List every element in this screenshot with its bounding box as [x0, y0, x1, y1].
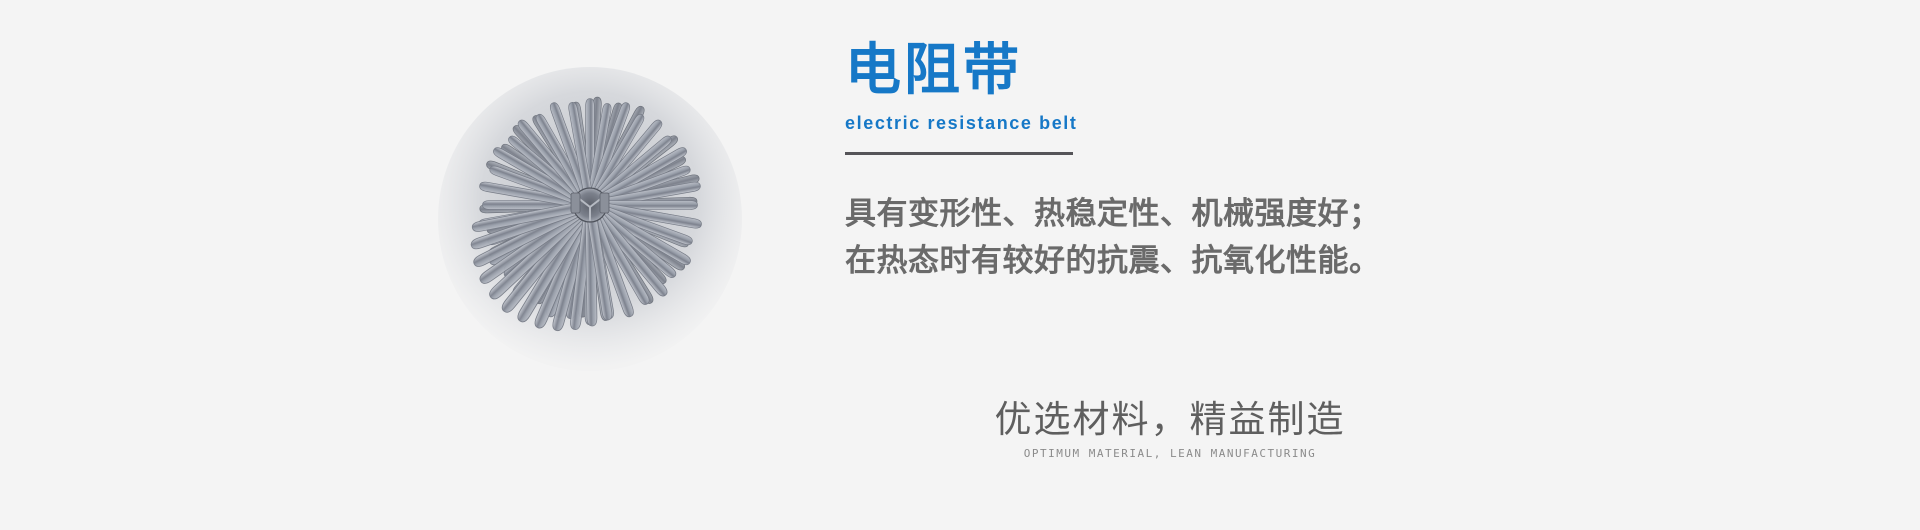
tagline-block: 优选材料，精益制造 OPTIMUM MATERIAL, LEAN MANUFAC… — [960, 398, 1380, 461]
title-divider — [845, 152, 1073, 155]
description-line-2: 在热态时有较好的抗震、抗氧化性能。 — [845, 238, 1845, 285]
copy-block: 电阻带 electric resistance belt 具有变形性、热稳定性、… — [845, 40, 1845, 285]
page-title: 电阻带 — [845, 40, 1845, 102]
description-line-1: 具有变形性、热稳定性、机械强度好； — [845, 191, 1845, 238]
page-subtitle: electric resistance belt — [845, 112, 1845, 134]
product-banner: 电阻带 electric resistance belt 具有变形性、热稳定性、… — [0, 0, 1920, 530]
resistance-belt-radial-bundle-icon — [370, 55, 810, 435]
product-image — [370, 55, 810, 435]
tagline-english: OPTIMUM MATERIAL, LEAN MANUFACTURING — [960, 446, 1380, 461]
product-description: 具有变形性、热稳定性、机械强度好； 在热态时有较好的抗震、抗氧化性能。 — [845, 191, 1845, 285]
tagline-chinese: 优选材料，精益制造 — [960, 398, 1380, 442]
